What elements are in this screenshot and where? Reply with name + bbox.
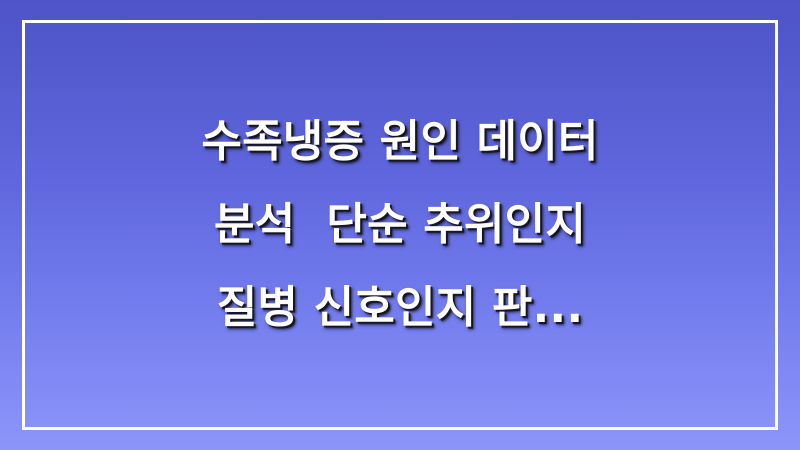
thumbnail-card: 수족냉증 원인 데이터 분석 단순 추위인지 질병 신호인지 판... xyxy=(0,0,800,450)
headline-line-2: 분석 단순 추위인지 xyxy=(60,183,740,266)
headline-line-1: 수족냉증 원인 데이터 xyxy=(60,100,740,183)
headline-line-3: 질병 신호인지 판... xyxy=(60,266,740,349)
headline-block: 수족냉증 원인 데이터 분석 단순 추위인지 질병 신호인지 판... xyxy=(0,0,800,450)
